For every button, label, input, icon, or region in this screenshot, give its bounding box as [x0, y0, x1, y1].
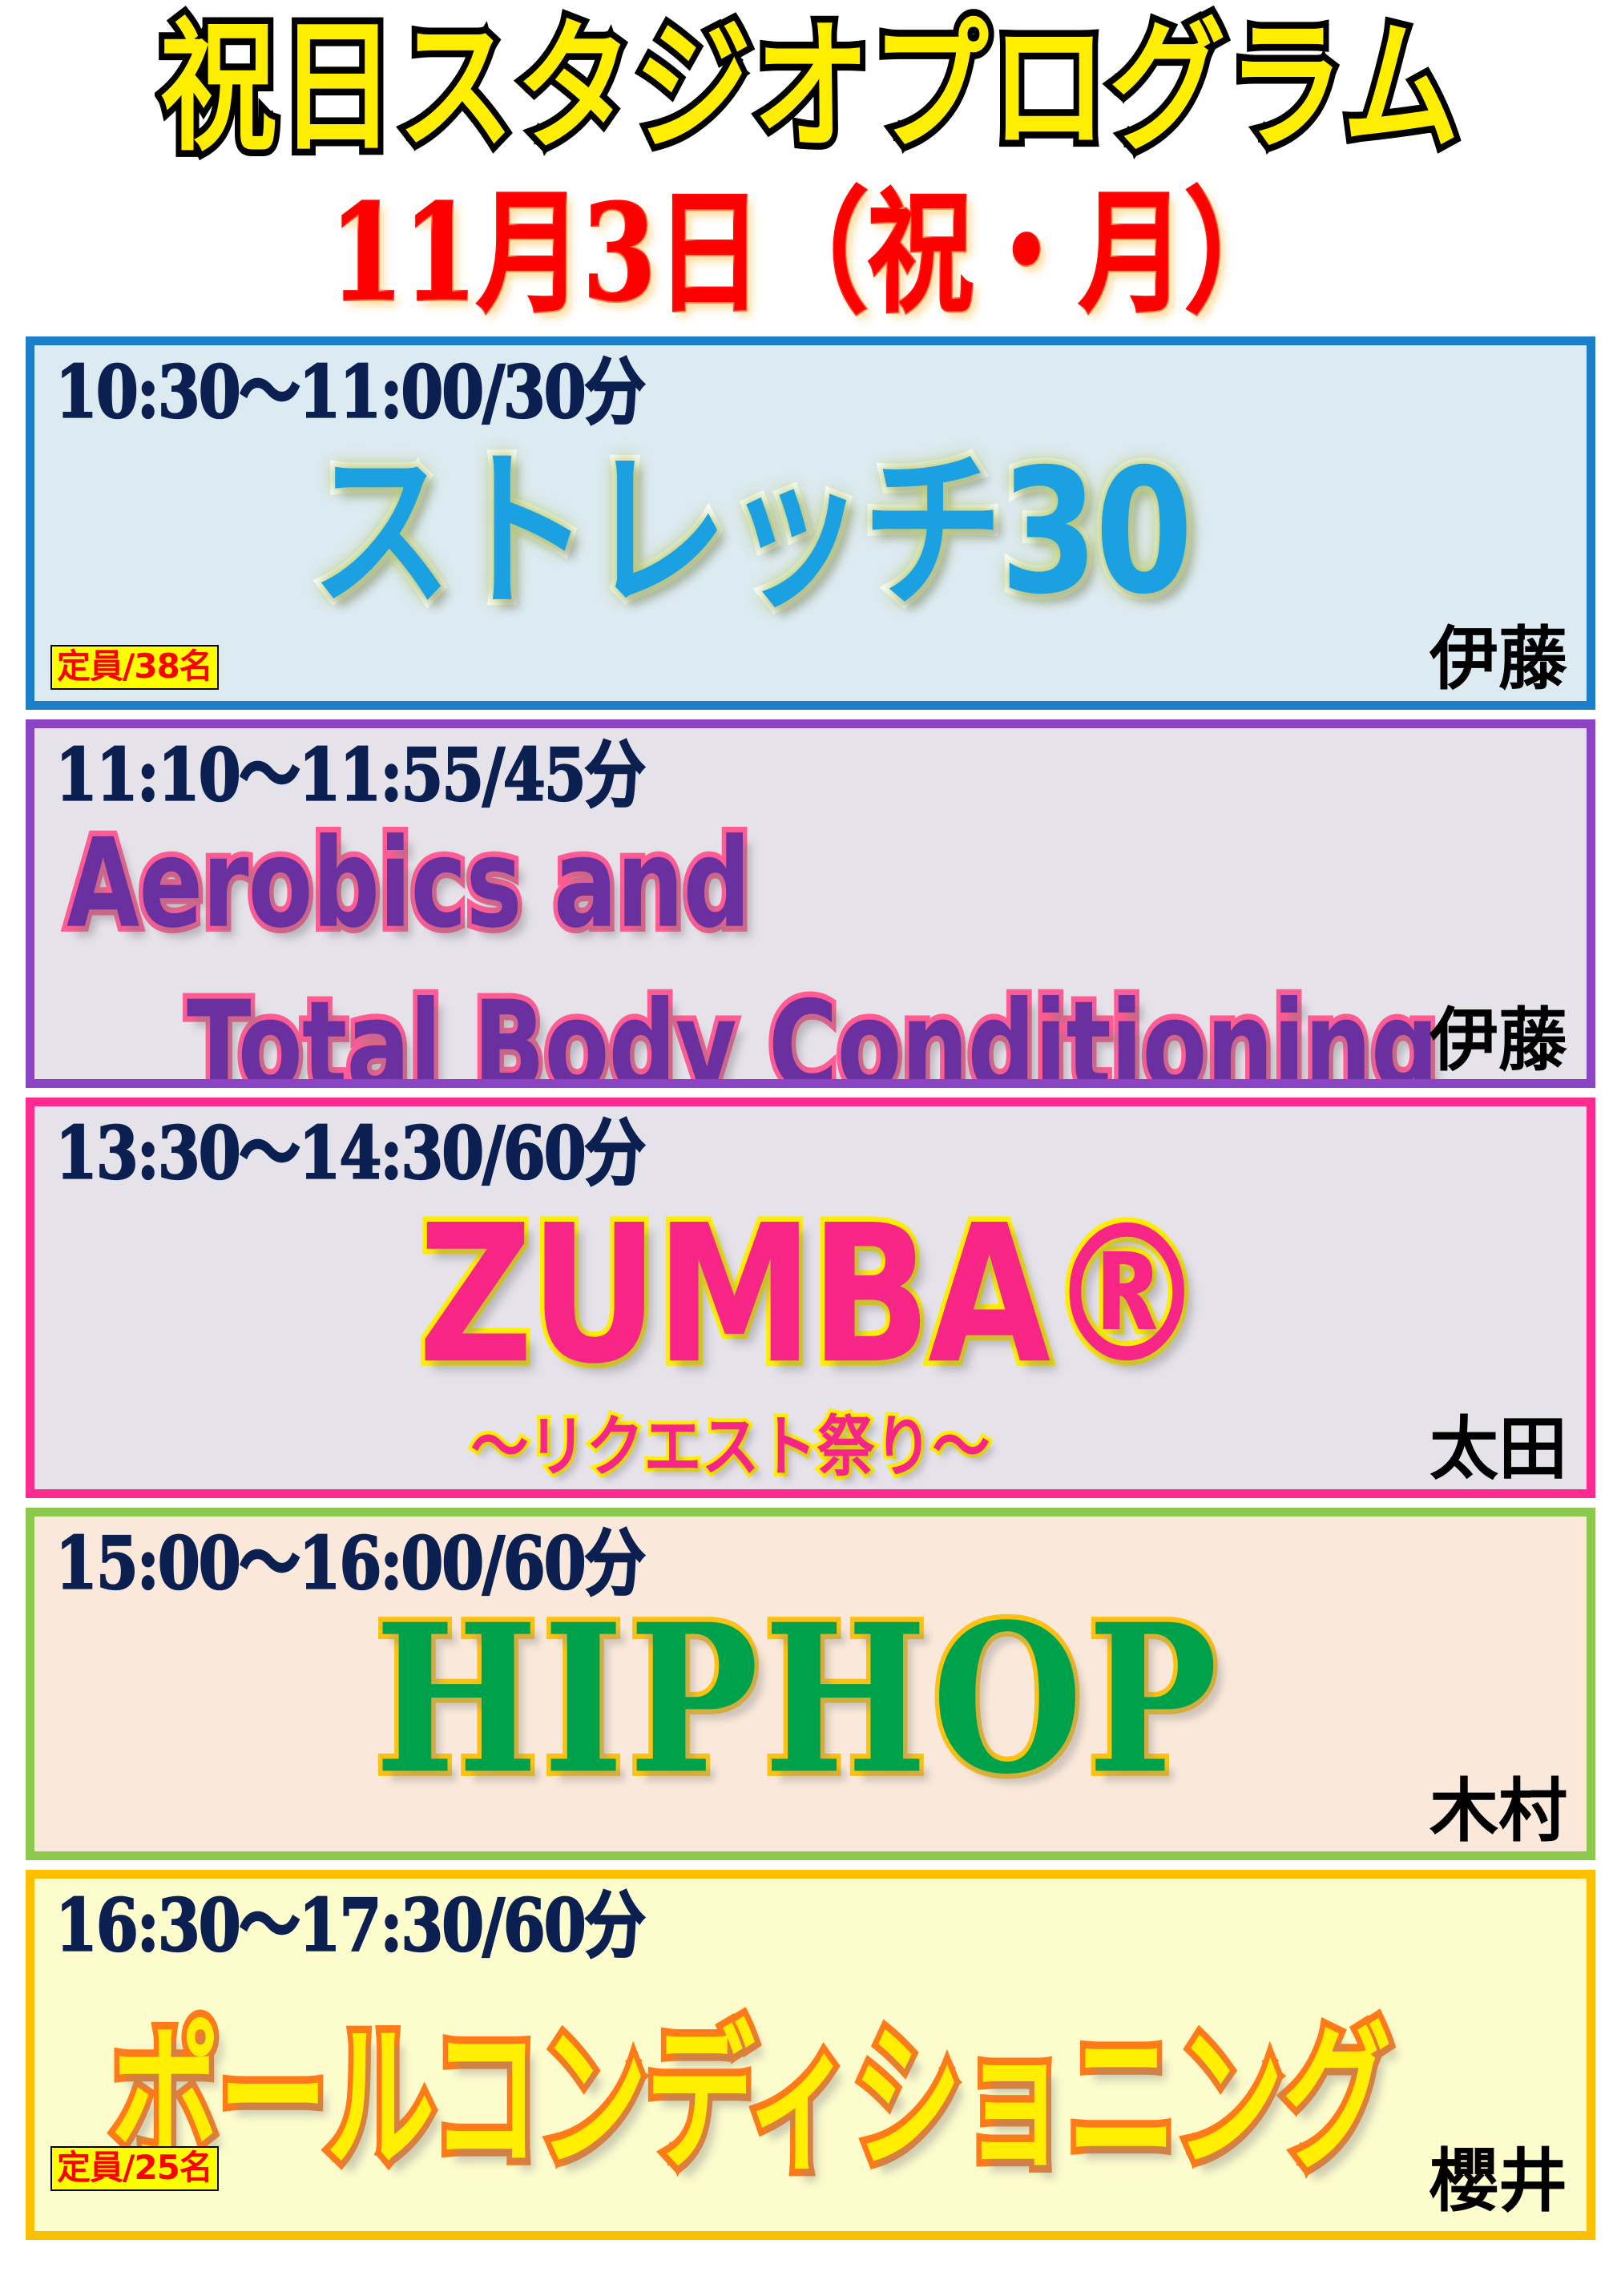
program-time: 13:30〜14:30/60分: [55, 1113, 644, 1194]
program-instructor: 伊藤: [1429, 1004, 1567, 1078]
program-block-hiphop: 15:00〜16:00/60分 HIPHOP 木村: [26, 1508, 1595, 1860]
course-line-2: Total Body Conditioning: [67, 965, 1450, 1088]
program-block-stretch: 10:30〜11:00/30分 ストレッチ30 伊藤 定員/38名: [26, 336, 1595, 710]
program-block-aerobics: 11:10〜11:55/45分 Aerobics andTotal Body C…: [26, 719, 1595, 1088]
program-instructor: 太田: [1429, 1412, 1567, 1486]
program-course-name: ストレッチ30: [34, 440, 1587, 626]
program-instructor: 木村: [1429, 1774, 1567, 1848]
program-course-subtitle: 〜リクエスト祭り〜: [34, 1411, 1587, 1483]
program-capacity-badge: 定員/25名: [50, 2146, 219, 2191]
studio-program-poster: 祝日スタジオプログラム 11月3日（祝・月） 10:30〜11:00/30分 ス…: [0, 0, 1621, 2296]
program-instructor: 櫻井: [1429, 2145, 1567, 2218]
program-time: 16:30〜17:30/60分: [55, 1885, 644, 1966]
program-instructor: 伊藤: [1429, 622, 1567, 696]
program-block-pole-conditioning: 16:30〜17:30/60分 ポールコンディショニング 櫻井 定員/25名: [26, 1870, 1595, 2240]
program-course-name: HIPHOP: [34, 1590, 1587, 1807]
program-block-zumba: 13:30〜14:30/60分 ZUMBA® 〜リクエスト祭り〜 太田: [26, 1098, 1595, 1498]
program-time: 10:30〜11:00/30分: [55, 352, 644, 433]
program-course-name: ZUMBA®: [34, 1196, 1587, 1394]
page-title: 祝日スタジオプログラム: [0, 14, 1621, 161]
program-course-name: ポールコンディショニング: [34, 2013, 1587, 2188]
poster-header: 祝日スタジオプログラム 11月3日（祝・月）: [0, 0, 1621, 336]
program-course-name: Aerobics andTotal Body Conditioning: [34, 802, 1587, 1088]
date-subtitle: 11月3日（祝・月）: [0, 184, 1621, 324]
course-line-1: Aerobics and: [67, 812, 750, 955]
program-capacity-badge: 定員/38名: [50, 645, 219, 690]
